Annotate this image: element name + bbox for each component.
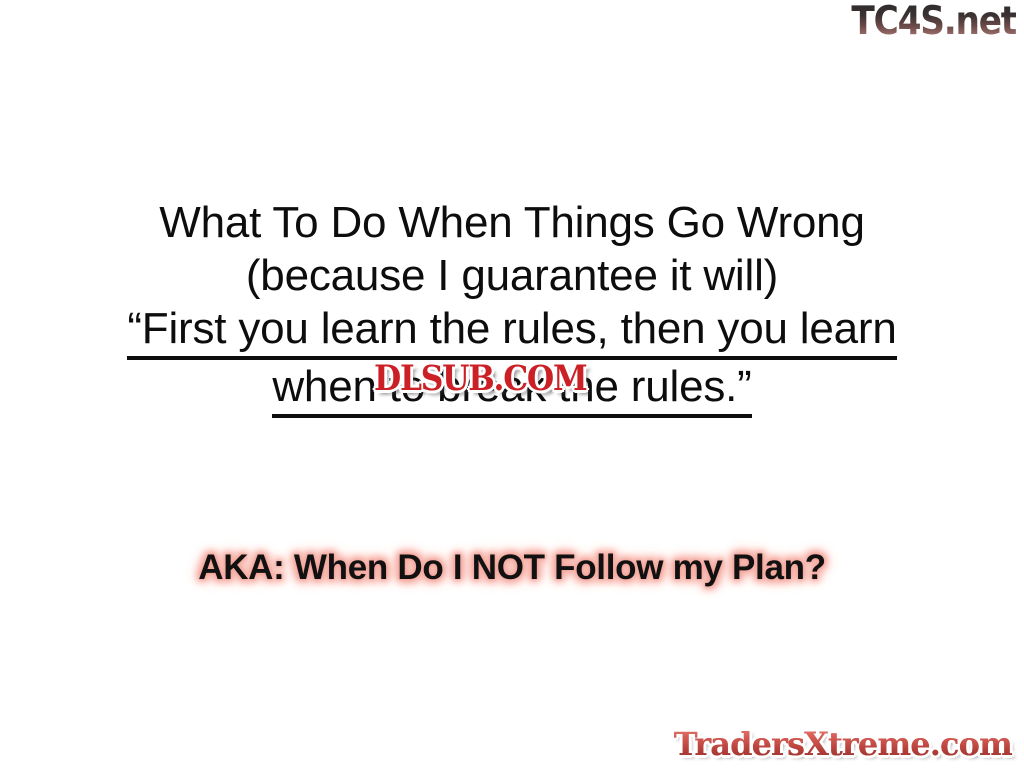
subtitle-text: AKA: When Do I NOT Follow my Plan? <box>198 548 826 587</box>
title-line-1: What To Do When Things Go Wrong <box>0 196 1024 249</box>
slide-canvas: TC4S.net What To Do When Things Go Wrong… <box>0 0 1024 768</box>
tradersxtreme-brand-logo: TradersXtreme.com TradersXtreme.com <box>674 728 1012 760</box>
title-line-2: (because I guarantee it will) <box>0 249 1024 302</box>
tc4s-brand-logo: TC4S.net <box>851 2 1016 41</box>
dlsub-watermark: DLSUB.COM <box>374 361 586 395</box>
tradersxtreme-logo-fill: TradersXtreme.com <box>674 725 1012 763</box>
quote-line-1: “First you learn the rules, then you lea… <box>127 302 896 360</box>
quote-line-1-wrapper: “First you learn the rules, then you lea… <box>0 302 1024 360</box>
subtitle-row: AKA: When Do I NOT Follow my Plan? <box>0 546 1024 590</box>
